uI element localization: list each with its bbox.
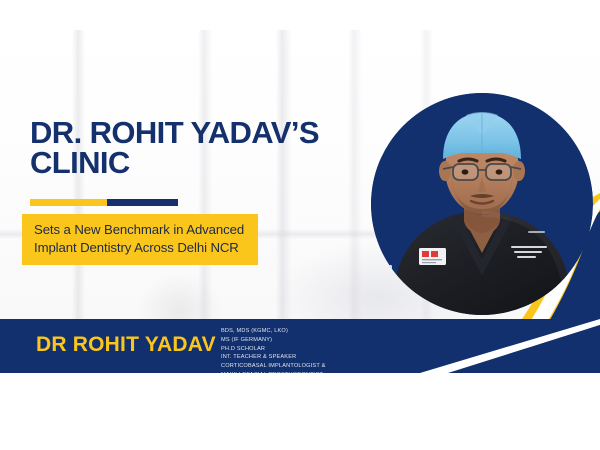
- footer-doctor-name: DR ROHIT YADAV: [36, 333, 216, 357]
- diagonal-swoosh: [410, 319, 600, 373]
- chest-name-badge: [419, 248, 446, 265]
- promo-banner: DR. ROHIT YADAV’S CLINIC Sets a New Benc…: [0, 30, 600, 373]
- credential-line: CORTICOBASAL IMPLANTOLOGIST &: [221, 362, 325, 371]
- accent-rule: [30, 199, 178, 206]
- subtitle-box: Sets a New Benchmark in Advanced Implant…: [22, 214, 258, 265]
- doctor-portrait: [371, 93, 593, 315]
- credential-line: INT. TEACHER & SPEAKER: [221, 353, 325, 362]
- credential-line: MAXILLOFACIAL PROSTHODONTIST: [221, 371, 325, 373]
- page-title: DR. ROHIT YADAV’S CLINIC: [30, 118, 390, 179]
- footer-bar: DR ROHIT YADAV BDS, MDS (KGMC, LKO) MS (…: [0, 319, 600, 373]
- subtitle-line-2: Implant Dentistry Across Delhi NCR: [34, 239, 244, 257]
- accent-rule-navy: [107, 199, 178, 206]
- credential-line: BDS, MDS (KGMC, LKO): [221, 327, 325, 336]
- banner-canvas: DR. ROHIT YADAV’S CLINIC Sets a New Benc…: [0, 0, 600, 450]
- subtitle-line-1: Sets a New Benchmark in Advanced: [34, 221, 244, 239]
- headline-line-2: CLINIC: [30, 148, 390, 178]
- credential-line: MS (IF GERMANY): [221, 336, 325, 345]
- footer-credentials: BDS, MDS (KGMC, LKO) MS (IF GERMANY) PH.…: [221, 327, 325, 373]
- accent-rule-yellow: [30, 199, 107, 206]
- credential-line: PH.D SCHOLAR: [221, 345, 325, 354]
